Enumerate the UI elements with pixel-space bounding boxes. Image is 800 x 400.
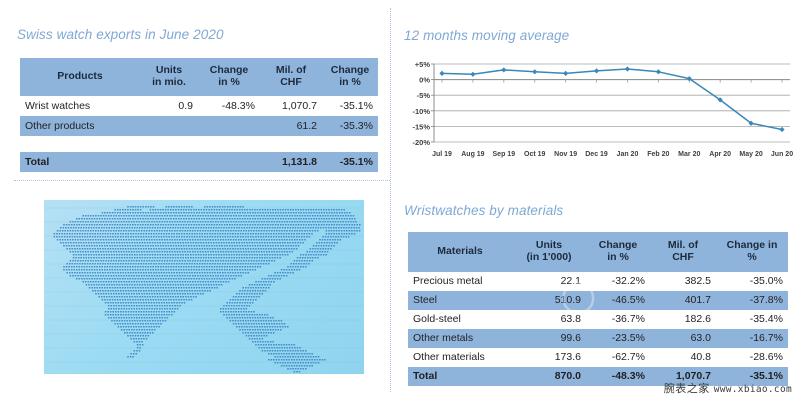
header-line-1: Products: [57, 70, 103, 82]
cell-change-value: -35.4%: [716, 310, 788, 329]
moving-average-chart: +5%0%-5%-10%-15%-20%Jul 19Aug 19Sep 19Oc…: [400, 50, 796, 168]
cell-change-value: -37.8%: [716, 291, 788, 310]
page-title-exports: Swiss watch exports in June 2020: [17, 27, 224, 42]
cell-material: Other metals: [408, 329, 512, 348]
cell-change-units: -62.7%: [586, 348, 650, 367]
cell-material: Total: [408, 367, 512, 386]
map-land-dots: [54, 206, 361, 373]
cell-units: 870.0: [512, 367, 586, 386]
cell-mil-chf: 382.5: [650, 272, 716, 291]
data-point-marker: [656, 69, 661, 74]
header-line-1: Mil. of: [668, 239, 698, 251]
cell-change-units: [198, 152, 260, 172]
header-line-2: CHF: [280, 76, 302, 88]
header-line-2: in %: [607, 251, 629, 263]
x-axis-tick-label: Aug 19: [461, 151, 484, 158]
data-point-marker: [779, 127, 784, 132]
table-row: Gold-steel63.8-36.7%182.6-35.4%: [408, 310, 788, 329]
cell-units: 63.8: [512, 310, 586, 329]
cell-change-value: -35.3%: [322, 116, 378, 136]
column-header-materials: Materials: [408, 232, 512, 272]
chart-svg: +5%0%-5%-10%-15%-20%Jul 19Aug 19Sep 19Oc…: [400, 50, 796, 168]
column-header-change-value: Change in %: [716, 232, 788, 272]
header-line-1: Units: [156, 64, 182, 76]
data-point-marker: [501, 67, 506, 72]
data-series-line: [442, 69, 782, 130]
data-point-marker: [625, 66, 630, 71]
header-line-1: Units: [536, 239, 562, 251]
cell-mil-chf: 61.2: [260, 116, 322, 136]
x-axis-tick-label: Jan 20: [617, 151, 639, 158]
header-line-2: %: [747, 251, 756, 263]
data-point-marker: [563, 71, 568, 76]
cell-product: Wrist watches: [20, 96, 140, 116]
header-line-1: Change in: [727, 239, 778, 251]
cell-change-units: -36.7%: [586, 310, 650, 329]
x-axis-tick-label: Jun 20: [771, 151, 793, 158]
header-line-1: Materials: [437, 245, 483, 257]
x-axis-tick-label: Mar 20: [678, 151, 700, 158]
world-map-dotted-icon: [44, 200, 364, 374]
y-axis-tick-label: -5%: [417, 91, 431, 100]
header-line-2: (in 1'000): [526, 251, 571, 263]
table-row-total: Total 1,131.8 -35.1%: [20, 152, 378, 172]
page-title-moving-average: 12 months moving average: [404, 28, 569, 43]
page-title-materials: Wristwatches by materials: [404, 203, 563, 218]
cell-change-units: -32.2%: [586, 272, 650, 291]
cell-change-units: -23.5%: [586, 329, 650, 348]
cell-mil-chf: 63.0: [650, 329, 716, 348]
data-point-marker: [439, 71, 444, 76]
cell-units: [140, 116, 198, 136]
cell-mil-chf: 1,131.8: [260, 152, 322, 172]
cell-change-value: -16.7%: [716, 329, 788, 348]
cell-product: Total: [20, 152, 140, 172]
table-row: Wrist watches 0.9 -48.3% 1,070.7 -35.1%: [20, 96, 378, 116]
column-header-mil-chf: Mil. of CHF: [650, 232, 716, 272]
column-header-products: Products: [20, 58, 140, 96]
column-header-change-units: Change in %: [198, 58, 260, 96]
cell-units: 510.9: [512, 291, 586, 310]
x-axis-tick-label: May 20: [739, 151, 762, 158]
cell-mil-chf: 182.6: [650, 310, 716, 329]
table-row: Precious metal22.1-32.2%382.5-35.0%: [408, 272, 788, 291]
header-line-1: Change: [331, 64, 370, 76]
slide-canvas: Swiss watch exports in June 2020 Product…: [0, 0, 800, 400]
cell-change-value: -28.6%: [716, 348, 788, 367]
y-axis-tick-label: +5%: [415, 60, 431, 69]
watermark-url: www.xbiao.com: [714, 384, 792, 395]
table-header-row: Materials Units (in 1'000) Change in % M…: [408, 232, 788, 272]
materials-table: Materials Units (in 1'000) Change in % M…: [408, 232, 788, 386]
column-header-mil-chf: Mil. of CHF: [260, 58, 322, 96]
cell-mil-chf: 40.8: [650, 348, 716, 367]
table-row-spacer: [20, 136, 378, 152]
cell-product: Other products: [20, 116, 140, 136]
data-point-marker: [470, 72, 475, 77]
world-map-panel: [14, 190, 384, 390]
materials-table-body: Precious metal22.1-32.2%382.5-35.0%Steel…: [408, 272, 788, 386]
header-line-2: in %: [339, 76, 361, 88]
column-header-units: Units (in 1'000): [512, 232, 586, 272]
site-watermark: 腕表之家www.xbiao.com: [664, 380, 792, 396]
header-line-1: Mil. of: [276, 64, 306, 76]
table-row: Steel510.9-46.5%401.7-37.8%: [408, 291, 788, 310]
cell-units: 99.6: [512, 329, 586, 348]
column-header-change-value: Change in %: [322, 58, 378, 96]
x-axis-tick-label: Dec 19: [585, 151, 608, 158]
cell-change-units: -48.3%: [586, 367, 650, 386]
cell-change-value: -35.0%: [716, 272, 788, 291]
data-point-marker: [594, 68, 599, 73]
header-line-1: Change: [599, 239, 638, 251]
y-axis-tick-label: -15%: [412, 122, 430, 131]
y-axis-tick-label: -20%: [412, 138, 430, 147]
data-point-marker: [532, 69, 537, 74]
cell-change-value: -35.1%: [322, 152, 378, 172]
cell-change-units: -46.5%: [586, 291, 650, 310]
cell-units: 22.1: [512, 272, 586, 291]
x-axis-tick-label: Oct 19: [524, 151, 546, 158]
x-axis-tick-label: Sep 19: [493, 151, 516, 158]
table-row: Other materials173.6-62.7%40.8-28.6%: [408, 348, 788, 367]
column-header-units: Units in mio.: [140, 58, 198, 96]
x-axis-tick-label: Jul 19: [432, 151, 452, 158]
x-axis-tick-label: Feb 20: [647, 151, 669, 158]
x-axis-tick-label: Nov 19: [554, 151, 577, 158]
table-header-row: Products Units in mio. Change in % Mil. …: [20, 58, 378, 96]
cell-material: Gold-steel: [408, 310, 512, 329]
cell-material: Other materials: [408, 348, 512, 367]
y-axis-tick-label: -10%: [412, 107, 430, 116]
watermark-cn: 腕表之家: [664, 382, 710, 395]
cell-mil-chf: 1,070.7: [260, 96, 322, 116]
cell-material: Precious metal: [408, 272, 512, 291]
x-axis-tick-label: Apr 20: [709, 151, 731, 158]
cell-change-value: -35.1%: [322, 96, 378, 116]
table-row: Other products 61.2 -35.3%: [20, 116, 378, 136]
cell-change-units: -48.3%: [198, 96, 260, 116]
header-line-2: in %: [218, 76, 240, 88]
y-axis-tick-label: 0%: [419, 76, 430, 85]
exports-table: Products Units in mio. Change in % Mil. …: [20, 58, 378, 172]
cell-material: Steel: [408, 291, 512, 310]
table-row: Other metals99.6-23.5%63.0-16.7%: [408, 329, 788, 348]
header-line-1: Change: [210, 64, 249, 76]
cell-units: 173.6: [512, 348, 586, 367]
cell-units: [140, 152, 198, 172]
horizontal-divider: [14, 180, 390, 181]
cell-units: 0.9: [140, 96, 198, 116]
header-line-2: in mio.: [152, 76, 186, 88]
vertical-divider: [390, 8, 391, 392]
header-line-2: CHF: [672, 251, 694, 263]
cell-change-units: [198, 116, 260, 136]
world-map-image: [44, 200, 364, 374]
cell-mil-chf: 401.7: [650, 291, 716, 310]
column-header-change-units: Change in %: [586, 232, 650, 272]
